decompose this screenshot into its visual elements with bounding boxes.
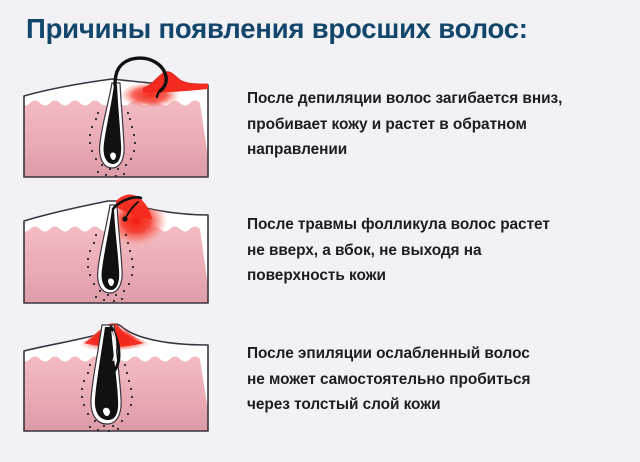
surface-bump-1: [143, 72, 208, 93]
illustration-2-skin-cross-section: [12, 185, 224, 315]
caption-1-line-1: После депиляции волос загибается вниз,: [247, 86, 639, 112]
caption-3-line-3: через толстый слой кожи: [247, 392, 639, 418]
illustration-1-skin-cross-section: [12, 55, 224, 185]
caption-3: После эпиляции ослабленный волос не може…: [247, 341, 639, 418]
illustration-3-skin-cross-section: [12, 307, 224, 437]
caption-2-line-2: не вверх, а вбок, не выходя на: [247, 238, 639, 264]
page-title: Причины появления вросших волос:: [26, 12, 626, 46]
caption-1: После депиляции волос загибается вниз, п…: [247, 86, 639, 163]
caption-1-line-3: направлении: [247, 137, 639, 163]
section-2: После травмы фолликула волос растет не в…: [0, 185, 640, 310]
caption-3-line-2: не может самостоятельно пробиться: [247, 367, 639, 393]
caption-2-line-3: поверхность кожи: [247, 263, 639, 289]
section-3: После эпиляции ослабленный волос не може…: [0, 307, 640, 435]
caption-2-line-1: После травмы фолликула волос растет: [247, 212, 639, 238]
caption-3-line-1: После эпиляции ослабленный волос: [247, 341, 639, 367]
caption-2: После травмы фолликула волос растет не в…: [247, 212, 639, 289]
section-1: После депиляции волос загибается вниз, п…: [0, 55, 640, 185]
caption-1-line-2: пробивает кожу и растет в обратном: [247, 112, 639, 138]
ingrown-hair-infographic: Причины появления вросших волос:: [0, 0, 640, 462]
